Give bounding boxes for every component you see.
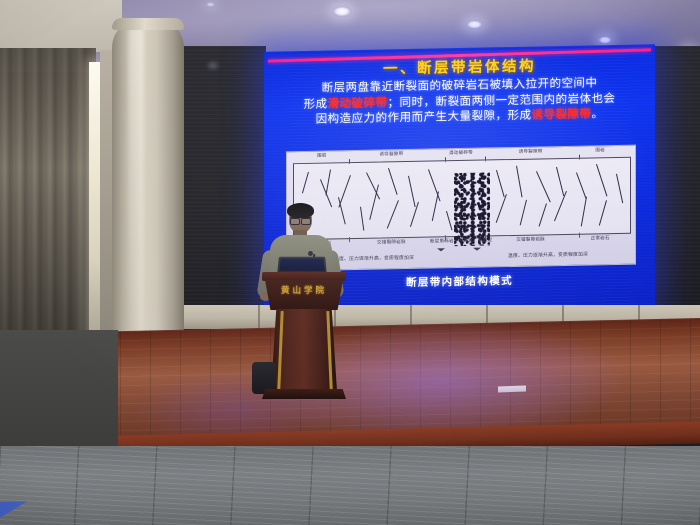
curtain-shadow [0,48,96,348]
ceiling-light-1 [332,6,352,17]
arrow-label-right: 温度、压力逐渐升高，变质程度加深 [461,250,635,260]
line2-highlight: 滑动破碎带 [328,95,388,110]
glasses-icon [290,217,311,223]
line3-prefix: 因构造应力的作用而产生大量裂隙，形成 [316,108,532,126]
bottom-label-1: 交错裂隙岩脉 [357,240,427,247]
column-capital [112,18,184,30]
ceiling-light-3 [598,36,612,44]
bottom-label-3: 交错裂隙岩脉 [496,237,566,244]
top-label-4: 围岩 [565,148,635,155]
top-label-0: 围岩 [287,153,357,160]
line3-suffix: 。 [591,106,603,120]
diagram-arrow-right-icon [473,248,481,251]
round-column [112,18,184,368]
wall-panel-right [654,46,700,328]
microphone-icon [308,251,313,256]
column-highlight [128,22,144,352]
speaker-hair [287,203,314,218]
ceiling-light-5 [206,2,215,7]
top-label-3: 诱导裂隙带 [496,149,566,156]
line3-highlight: 诱导裂隙带 [531,107,591,122]
podium-top-surface [262,272,346,281]
diagram-arrow-left-icon [437,248,445,251]
podium-base [262,389,346,399]
lecture-hall-photo: 一、断层带岩体结构 断层两盘靠近断裂面的破碎岩石被填入拉开的空间中 形成滑动破碎… [0,0,700,525]
laptop-screen [280,259,325,271]
slide-body-text: 断层两盘靠近断裂面的破碎岩石被填入拉开的空间中 形成滑动破碎带；同时，断裂面两侧… [274,74,645,128]
top-label-1: 诱导裂隙带 [357,152,427,159]
ceiling-light-2 [466,20,483,29]
podium-and-speaker: 黄山学院 [248,196,360,428]
bottom-label-4: 正常岩石 [565,236,635,243]
floor-shadow-left [0,330,118,452]
line2-prefix: 形成 [304,96,328,110]
wall-reflection [208,62,218,69]
left-upper-wall [0,0,122,52]
paper-on-stage [498,386,526,393]
podium-institution-name: 黄山学院 [265,284,343,296]
tiled-floor [0,446,700,525]
